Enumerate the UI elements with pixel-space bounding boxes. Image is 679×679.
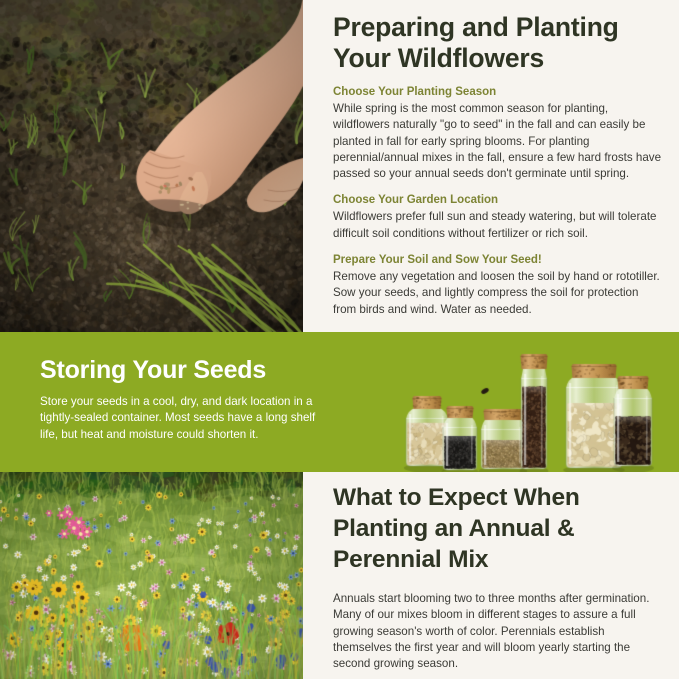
storing-heading: Storing Your Seeds — [40, 356, 330, 384]
subheading-prepare-soil: Prepare Your Soil and Sow Your Seed! — [333, 253, 663, 268]
planting-block-location: Choose Your Garden Location Wildflowers … — [333, 193, 663, 242]
infographic-page: Preparing and Planting Your Wildflowers … — [0, 0, 679, 679]
planting-text-column: Preparing and Planting Your Wildflowers … — [333, 0, 663, 318]
wildflower-meadow-photo — [0, 472, 303, 679]
soil-planting-photo — [0, 0, 303, 332]
planting-block-soil: Prepare Your Soil and Sow Your Seed! Rem… — [333, 253, 663, 318]
storing-text-column: Storing Your Seeds Store your seeds in a… — [40, 356, 330, 443]
subheading-garden-location: Choose Your Garden Location — [333, 193, 663, 208]
expect-text-column: What to Expect When Planting an Annual &… — [333, 482, 653, 672]
subheading-planting-season: Choose Your Planting Season — [333, 85, 663, 100]
seed-jars-photo — [381, 342, 679, 472]
page-title: Preparing and Planting Your Wildflowers — [333, 12, 663, 74]
expect-heading: What to Expect When Planting an Annual &… — [333, 482, 653, 575]
body-planting-season: While spring is the most common season f… — [333, 101, 663, 182]
expect-body: Annuals start blooming two to three mont… — [333, 591, 653, 672]
body-garden-location: Wildflowers prefer full sun and steady w… — [333, 209, 663, 242]
section-preparing-and-planting: Preparing and Planting Your Wildflowers … — [0, 0, 679, 332]
planting-block-season: Choose Your Planting Season While spring… — [333, 85, 663, 182]
body-prepare-soil: Remove any vegetation and loosen the soi… — [333, 269, 663, 318]
storing-body: Store your seeds in a cool, dry, and dar… — [40, 394, 330, 443]
